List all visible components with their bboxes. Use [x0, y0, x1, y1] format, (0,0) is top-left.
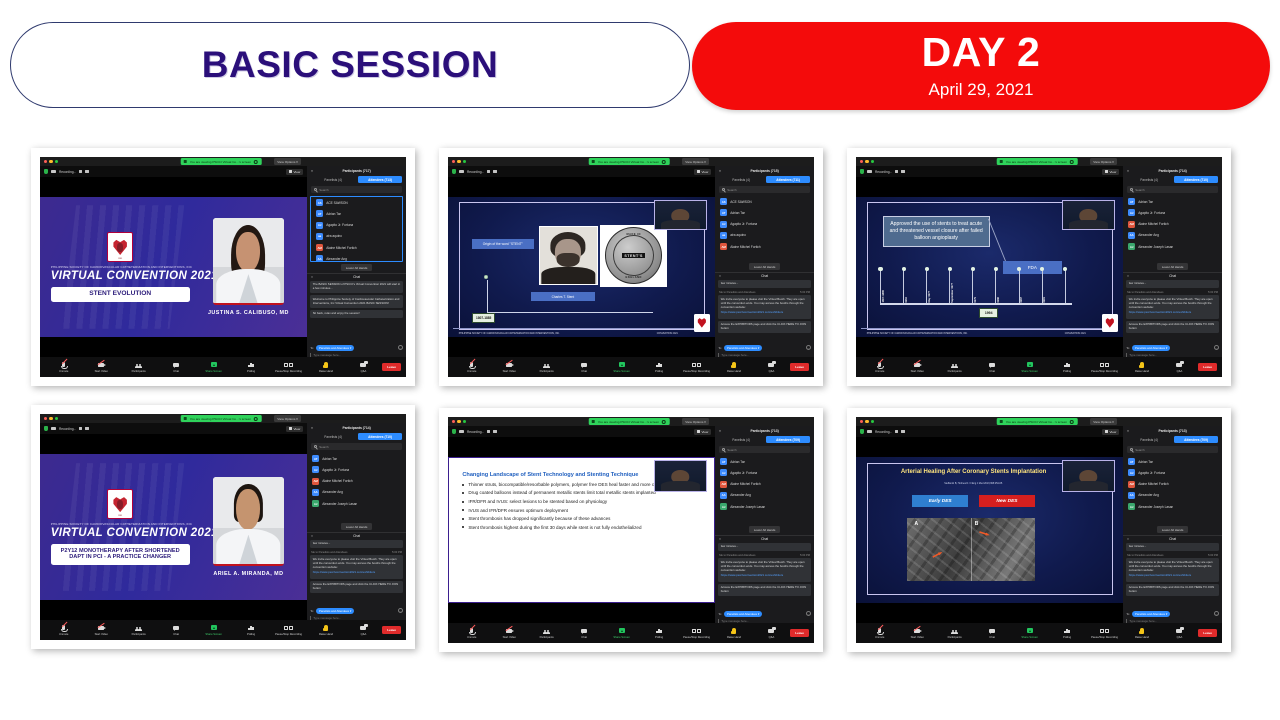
camera-icon: [506, 363, 512, 367]
lower-all-hands-button[interactable]: Lower All Hands: [1157, 263, 1189, 270]
toolbar-unmute[interactable]: Unmute: [453, 627, 490, 638]
security-shield-icon[interactable]: [44, 426, 48, 431]
screen-share-banner: You are viewing PSCCI Virtual Co...'s sc…: [181, 158, 262, 166]
recording-label: Recording...: [59, 170, 76, 174]
toolbar-share-screen[interactable]: Share Screen: [195, 361, 232, 372]
toolbar-qa-label: Q&A: [361, 370, 367, 373]
stop-share-icon[interactable]: [254, 160, 258, 164]
participant-list-item[interactable]: AJ Agapito Jr. Fortuna: [717, 467, 812, 478]
stop-share-icon[interactable]: [254, 417, 258, 421]
toolbar-start-video-label: Start Video: [503, 636, 516, 639]
participant-list-item[interactable]: AJ Alexander Joseph Lasan: [717, 501, 812, 512]
security-shield-icon[interactable]: [860, 429, 864, 434]
chat-input[interactable]: Type message here...: [310, 353, 403, 357]
view-button[interactable]: View: [1102, 429, 1119, 435]
chevron-down-icon[interactable]: ▾: [311, 169, 313, 173]
toolbar-polling[interactable]: Polling: [232, 624, 269, 635]
chat-link[interactable]: https://www.psccivconvention2021.com/exh…: [721, 574, 809, 578]
convention-title: VIRTUAL CONVENTION 2021: [51, 270, 190, 282]
chat-recipient-row[interactable]: To: Panelists and Attendees ▾ ⋯: [718, 611, 811, 617]
toolbar-qa-label: Q&A: [769, 370, 775, 373]
toolbar-chat[interactable]: Chat: [157, 361, 194, 372]
minimize-icon: [865, 420, 868, 423]
chat-input[interactable]: Type message here...: [718, 353, 811, 357]
fda-callout-text: Approved the use of stents to treat acut…: [883, 216, 990, 246]
leave-button[interactable]: Leave: [1198, 363, 1217, 371]
toolbar-recording-label: Pause/Stop Recording: [275, 370, 302, 373]
attendee-list[interactable]: AT Adrian Tan AJ Agapito Jr. Fortuna AM …: [1123, 196, 1222, 261]
toolbar-chat[interactable]: Chat: [565, 361, 602, 372]
chat-more-icon[interactable]: ⋯: [398, 608, 403, 613]
share-screen-icon: [1027, 362, 1033, 367]
chat-recipient-pill[interactable]: Panelists and Attendees ▾: [724, 611, 762, 617]
toolbar-chat[interactable]: Chat: [973, 361, 1010, 372]
participant-list-item[interactable]: AM Alaine Mitchel Fortich: [309, 476, 404, 487]
toolbar-chat-label: Chat: [173, 370, 179, 373]
participant-list-item[interactable]: AJ Agapito Jr. Fortuna: [313, 220, 400, 231]
tab-attendees[interactable]: Attendees (711): [766, 176, 810, 183]
chat-sender: Me to Panelists and Attendees: [719, 291, 755, 294]
chat-link[interactable]: https://www.psccivconvention2021.com/exh…: [721, 311, 809, 315]
shot-2-origin-of-stent[interactable]: You are viewing PSCCI Virtual Co...'s sc…: [439, 148, 823, 386]
polling-icon: [656, 362, 661, 367]
chat-recipient-row[interactable]: To: Panelists and Attendees ▾ ⋯: [1126, 345, 1219, 351]
attendee-list[interactable]: AS ACE SAWSON AT Adrian Tan AJ Agapito J…: [715, 196, 814, 261]
toolbar-start-video[interactable]: Start Video: [898, 627, 935, 638]
pip-body: [1069, 481, 1107, 491]
toolbar-share-screen-label: Share Screen: [1021, 370, 1037, 373]
toolbar-polling[interactable]: Polling: [1048, 627, 1085, 638]
chat-message: few minutes...: [310, 540, 403, 548]
tab-attendees[interactable]: Attendees (710): [358, 433, 402, 440]
tab-panelists[interactable]: Panelists (4): [1127, 176, 1171, 183]
lower-all-hands-button[interactable]: Lower All Hands: [1157, 526, 1189, 533]
leave-button[interactable]: Leave: [790, 629, 809, 637]
pause-recording-icon[interactable]: [79, 427, 82, 430]
avatar: AJ: [720, 503, 727, 510]
pause-recording-icon[interactable]: [895, 430, 898, 433]
chat-messages[interactable]: few minutes... Me to Panelists and Atten…: [715, 280, 814, 345]
tab-attendees[interactable]: Attendees (709): [766, 436, 810, 443]
participant-name: Agapito Jr. Fortuna: [326, 223, 353, 227]
chat-messages[interactable]: few minutes... Me to Panelists and Atten…: [715, 543, 814, 611]
participant-search-input[interactable]: Search: [311, 186, 402, 193]
toolbar-share-screen[interactable]: Share Screen: [1011, 361, 1048, 372]
security-shield-icon[interactable]: [44, 169, 48, 174]
toolbar-qa[interactable]: Q&A: [1161, 627, 1198, 638]
toolbar-polling[interactable]: Polling: [640, 361, 677, 372]
participant-list-item[interactable]: AJ Agapito Jr. Fortuna: [309, 464, 404, 475]
view-options-button[interactable]: View Options ▾: [1090, 418, 1117, 426]
chat-more-icon[interactable]: ⋯: [806, 611, 811, 616]
toolbar-raise-hand[interactable]: Raise Hand: [715, 361, 752, 372]
chat-message: Access the EXHIBITORS page and click the…: [718, 584, 811, 596]
toolbar-polling[interactable]: Polling: [232, 361, 269, 372]
participant-list-item[interactable]: AA Alexander Ang: [309, 487, 404, 498]
tab-panelists[interactable]: Panelists (4): [311, 176, 355, 183]
chat-compose: To: Panelists and Attendees ▾ ⋯ Type mes…: [1123, 611, 1222, 623]
chat-more-icon[interactable]: ⋯: [398, 345, 403, 350]
screen-share-banner: You are viewing PSCCI Virtual Co...'s sc…: [997, 158, 1078, 166]
stop-recording-icon[interactable]: [85, 170, 88, 173]
stop-share-icon[interactable]: [1070, 160, 1074, 164]
chevron-down-icon[interactable]: ▾: [1127, 537, 1129, 541]
attendee-list[interactable]: AS ACE SAWSON AT Adrian Tan AJ Agapito J…: [310, 196, 403, 262]
toolbar-recording-label: Pause/Stop Recording: [1091, 636, 1118, 639]
lower-all-hands-button[interactable]: Lower All Hands: [749, 526, 781, 533]
toolbar-polling[interactable]: Polling: [1048, 361, 1085, 372]
window-controls[interactable]: [452, 160, 466, 163]
toolbar-recording[interactable]: Pause/Stop Recording: [270, 361, 307, 372]
participant-search-input[interactable]: Search: [311, 443, 402, 450]
screen-share-banner: You are viewing PSCCI Virtual Co...'s sc…: [181, 415, 262, 423]
participant-search-input[interactable]: Search: [1127, 446, 1218, 453]
chevron-down-icon[interactable]: ▾: [719, 274, 721, 278]
zoom-body: Recording... View Approved the use of st…: [856, 166, 1222, 357]
chat-recipient-pill[interactable]: Panelists and Attendees ▾: [316, 608, 354, 614]
view-options-button[interactable]: View Options ▾: [274, 158, 301, 166]
view-button[interactable]: View: [694, 429, 711, 435]
chat-link[interactable]: https://www.psccivconvention2021.com/exh…: [1129, 311, 1217, 315]
chat-more-icon[interactable]: ⋯: [806, 345, 811, 350]
chat-recipient-pill[interactable]: Panelists and Attendees ▾: [1132, 611, 1170, 617]
tab-panelists[interactable]: Panelists (4): [719, 436, 763, 443]
security-shield-icon[interactable]: [452, 169, 456, 174]
qa-icon: [768, 629, 774, 634]
view-icon: [289, 170, 292, 173]
toolbar-chat[interactable]: Chat: [973, 627, 1010, 638]
timeline-tick: 1987: [1019, 270, 1020, 305]
participant-list-item[interactable]: AJ Alexander Joseph Lasan: [309, 498, 404, 509]
chat-more-icon[interactable]: ⋯: [1214, 345, 1219, 350]
polling-icon: [1064, 362, 1069, 367]
panel-a-label: A: [914, 521, 918, 527]
chat-message: The BASIC SESSION of PSCCI's Virtual Con…: [310, 281, 403, 293]
recording-camera-icon: [459, 430, 464, 433]
participant-list-item[interactable]: AT Adrian Tan: [1125, 456, 1220, 467]
toolbar-raise-hand[interactable]: Raise Hand: [715, 627, 752, 638]
shot-5-changing-landscape[interactable]: You are viewing PSCCI Virtual Co...'s sc…: [439, 408, 823, 652]
close-icon: [44, 160, 47, 163]
chevron-down-icon[interactable]: ▾: [1127, 169, 1129, 173]
toolbar-recording[interactable]: Pause/Stop Recording: [270, 624, 307, 635]
participant-list-item[interactable]: AA Alexander Ang: [717, 490, 812, 501]
participant-list-item[interactable]: aa aira aquino: [313, 231, 400, 242]
chevron-down-icon[interactable]: ▾: [1127, 429, 1129, 433]
chevron-down-icon[interactable]: ▾: [1127, 274, 1129, 278]
timeline-dot: [878, 267, 882, 271]
leave-button[interactable]: Leave: [382, 363, 401, 371]
qa-icon: [360, 363, 366, 368]
chat-recipient-row[interactable]: To: Panelists and Attendees ▾ ⋯: [718, 345, 811, 351]
participant-list-item[interactable]: aa aira aquino: [717, 230, 812, 241]
chat-messages[interactable]: few minutes... Me to Panelists and Atten…: [1123, 280, 1222, 345]
toolbar-unmute[interactable]: Unmute: [45, 624, 82, 635]
toolbar-unmute[interactable]: Unmute: [861, 627, 898, 638]
participant-list-item[interactable]: AM Alaine Mitchel Fortich: [1125, 219, 1220, 230]
toolbar-qa[interactable]: Q&A: [345, 361, 382, 372]
toolbar-participants[interactable]: Participants: [936, 627, 973, 638]
tab-attendees[interactable]: Attendees (713): [358, 176, 402, 183]
participant-search-input[interactable]: Search: [1127, 186, 1218, 193]
toolbar-start-video[interactable]: Start Video: [490, 361, 527, 372]
window-titlebar: You are viewing PSCCI Virtual Co...'s sc…: [448, 417, 814, 426]
toolbar-participants[interactable]: Participants: [528, 627, 565, 638]
tab-panelists[interactable]: Panelists (4): [311, 433, 355, 440]
view-options-button[interactable]: View Options ▾: [1090, 158, 1117, 166]
heart-icon: [697, 318, 706, 328]
camera-icon: [914, 629, 920, 633]
toolbar-qa[interactable]: Q&A: [753, 627, 790, 638]
toolbar-recording[interactable]: Pause/Stop Recording: [678, 627, 715, 638]
chevron-down-icon[interactable]: ▾: [311, 426, 313, 430]
participant-list-item[interactable]: AA Alexander Ang: [313, 253, 400, 262]
stop-recording-icon[interactable]: [493, 170, 496, 173]
toolbar-raise-hand[interactable]: Raise Hand: [307, 624, 344, 635]
window-controls[interactable]: [860, 160, 874, 163]
participant-list-item[interactable]: AJ Alexander Joseph Lasan: [1125, 241, 1220, 252]
recording-label: Recording...: [875, 170, 892, 174]
recording-icon: [692, 629, 701, 633]
toolbar-start-video-label: Start Video: [911, 636, 924, 639]
pause-recording-icon[interactable]: [487, 430, 490, 433]
toolbar-start-video[interactable]: Start Video: [490, 627, 527, 638]
chevron-down-icon[interactable]: ▾: [719, 537, 721, 541]
toolbar-share-screen[interactable]: Share Screen: [603, 627, 640, 638]
avatar: AJ: [316, 222, 323, 229]
slide-page: BASIC SESSION DAY 2 April 29, 2021 You a…: [0, 0, 1280, 720]
stop-share-icon[interactable]: [1070, 420, 1074, 424]
toolbar-raise-hand[interactable]: Raise Hand: [1123, 627, 1160, 638]
zoom-toolbar: Unmute Start Video Participants Chat Sha…: [448, 623, 814, 643]
chat-panel-header: ▾ Chat: [307, 273, 406, 281]
speaker-name: ARIEL A. MIRANDA, MD: [213, 571, 283, 577]
toolbar-chat-label: Chat: [581, 370, 587, 373]
timeline-year: 1979: [974, 297, 977, 303]
view-options-button[interactable]: View Options ▾: [274, 415, 301, 423]
participant-list-item[interactable]: AM Alaine Mitchel Fortich: [717, 479, 812, 490]
toolbar-start-video[interactable]: Start Video: [898, 361, 935, 372]
view-button[interactable]: View: [694, 169, 711, 175]
shot-3-fda-approval[interactable]: You are viewing PSCCI Virtual Co...'s sc…: [847, 148, 1231, 386]
avatar: AM: [1128, 221, 1135, 228]
toolbar-qa[interactable]: Q&A: [753, 361, 790, 372]
tab-panelists[interactable]: Panelists (4): [719, 176, 763, 183]
toolbar-share-screen[interactable]: Share Screen: [603, 361, 640, 372]
chat-input[interactable]: Type message here...: [1126, 353, 1219, 357]
participants-title: Participants (713): [1158, 429, 1186, 433]
participant-list-item[interactable]: AT Adrian Tan: [717, 207, 812, 218]
toolbar-chat[interactable]: Chat: [157, 624, 194, 635]
chat-link[interactable]: https://www.psccivconvention2021.com/exh…: [1129, 574, 1217, 578]
participant-list-item[interactable]: AM Alaine Mitchel Fortich: [313, 242, 400, 253]
chat-time: 5:00 PM: [800, 554, 810, 557]
participant-list-item[interactable]: AS ACE SAWSON: [717, 196, 812, 207]
maximize-icon: [55, 160, 58, 163]
toolbar-share-screen[interactable]: Share Screen: [1011, 627, 1048, 638]
window-controls[interactable]: [860, 420, 874, 423]
chat-title: Chat: [1169, 274, 1176, 278]
timeline-dot: [994, 267, 998, 271]
participant-list-item[interactable]: AT Adrian Tan: [717, 456, 812, 467]
chat-recipient-row[interactable]: To: Panelists and Attendees ▾ ⋯: [1126, 611, 1219, 617]
chat-messages[interactable]: few minutes... Me to Panelists and Atten…: [1123, 543, 1222, 611]
maximize-icon: [463, 160, 466, 163]
chat-messages[interactable]: few minutes... Me to Panelists and Atten…: [307, 540, 406, 608]
toolbar-participants[interactable]: Participants: [120, 361, 157, 372]
participants-title: Participants (714): [1158, 169, 1186, 173]
window-controls[interactable]: [44, 160, 58, 163]
stage-topbar: Recording... View: [856, 166, 1123, 177]
search-placeholder: Search: [727, 188, 737, 192]
window-controls[interactable]: [452, 420, 466, 423]
security-shield-icon[interactable]: [452, 429, 456, 434]
view-button[interactable]: View: [1102, 169, 1119, 175]
participant-list-item[interactable]: AJ Agapito Jr. Fortuna: [1125, 207, 1220, 218]
zoom-body: Recording... View 1985 PHILIPPINE SOCIET…: [40, 166, 406, 357]
chat-recipient-row[interactable]: To: Panelists and Attendees ▾ ⋯: [310, 608, 403, 614]
timeline-ticks: 1807-1885 1964 May 1977 September 1977 1…: [880, 270, 1072, 305]
chevron-down-icon[interactable]: ▾: [719, 429, 721, 433]
shot-4-p2y12-monotherapy[interactable]: You are viewing PSCCI Virtual Co...'s sc…: [31, 405, 415, 649]
participant-list-item[interactable]: AA Alexander Ang: [1125, 230, 1220, 241]
tab-attendees[interactable]: Attendees (710): [1174, 176, 1218, 183]
leave-button[interactable]: Leave: [790, 363, 809, 371]
toolbar-unmute[interactable]: Unmute: [453, 361, 490, 372]
toolbar-start-video[interactable]: Start Video: [82, 624, 119, 635]
speaker-pip: [654, 200, 707, 231]
toolbar-recording[interactable]: Pause/Stop Recording: [1086, 627, 1123, 638]
minimize-icon: [457, 420, 460, 423]
chat-input[interactable]: Type message here...: [1126, 619, 1219, 623]
share-banner-text: You are viewing PSCCI Virtual Co...'s sc…: [1006, 160, 1067, 164]
lower-all-hands-button[interactable]: Lower All Hands: [341, 523, 373, 530]
toolbar-chat[interactable]: Chat: [565, 627, 602, 638]
participant-list-item[interactable]: AJ Agapito Jr. Fortuna: [1125, 467, 1220, 478]
view-icon: [697, 430, 700, 433]
toolbar-polling[interactable]: Polling: [640, 627, 677, 638]
participant-list-item[interactable]: AA Alexander Ang: [1125, 490, 1220, 501]
toolbar-unmute[interactable]: Unmute: [45, 361, 82, 372]
chat-link[interactable]: https://www.psccivconvention2021.com/exh…: [313, 571, 401, 575]
attendee-list[interactable]: AT Adrian Tan AJ Agapito Jr. Fortuna AM …: [715, 456, 814, 524]
chat-messages[interactable]: The BASIC SESSION of PSCCI's Virtual Con…: [307, 281, 406, 345]
toolbar-qa[interactable]: Q&A: [1161, 361, 1198, 372]
lower-all-hands-button[interactable]: Lower All Hands: [749, 263, 781, 270]
toolbar-raise-hand[interactable]: Raise Hand: [307, 361, 344, 372]
share-indicator-icon: [184, 417, 187, 420]
view-button[interactable]: View: [286, 426, 303, 432]
zoom-stage: Recording... View 1985 PHILIPPINE SOCIET…: [40, 423, 307, 620]
chat-input[interactable]: Type message here...: [310, 616, 403, 620]
recording-icon: [1100, 363, 1109, 367]
chevron-down-icon[interactable]: ▾: [719, 169, 721, 173]
lower-all-hands-button[interactable]: Lower All Hands: [341, 264, 373, 271]
participant-list-item[interactable]: AJ Agapito Jr. Fortuna: [717, 219, 812, 230]
participant-name: Alaine Mitchel Fortich: [326, 246, 356, 250]
share-banner-text: You are viewing PSCCI Virtual Co...'s sc…: [190, 417, 251, 421]
toolbar-raise-hand-label: Raise Hand: [727, 370, 741, 373]
origin-callout: Origin of the word "STENT": [472, 239, 533, 249]
timeline-tick: 1979: [972, 270, 973, 305]
participant-list-item[interactable]: AM Alaine Mitchel Fortich: [717, 241, 812, 252]
view-options-button[interactable]: View Options ▾: [682, 418, 709, 426]
participant-name: Alaine Mitchel Fortich: [322, 479, 352, 483]
chat-recipient-pill[interactable]: Panelists and Attendees ▾: [724, 345, 762, 351]
view-button[interactable]: View: [286, 169, 303, 175]
shared-screen-canvas: Changing Landscape of Stent Technology a…: [448, 437, 715, 623]
participant-search-input[interactable]: Search: [719, 186, 810, 193]
participant-list-item[interactable]: AJ Alexander Joseph Lasan: [1125, 501, 1220, 512]
chevron-down-icon[interactable]: ▾: [311, 275, 313, 279]
toolbar-qa[interactable]: Q&A: [345, 624, 382, 635]
tab-panelists[interactable]: Panelists (4): [1127, 436, 1171, 443]
chat-input[interactable]: Type message here...: [718, 619, 811, 623]
stop-share-icon[interactable]: [662, 420, 666, 424]
pause-recording-icon[interactable]: [487, 170, 490, 173]
timeline-tick: 1991: [1042, 270, 1043, 305]
window-controls[interactable]: [44, 417, 58, 420]
arrow-icon: [978, 530, 989, 536]
participant-list-item[interactable]: AM Alaine Mitchel Fortich: [1125, 479, 1220, 490]
chat-message: Welcome to Philippine Society of Cardiov…: [310, 295, 403, 307]
participant-list-item[interactable]: AT Adrian Tan: [1125, 196, 1220, 207]
shot-6-arterial-healing[interactable]: You are viewing PSCCI Virtual Co...'s sc…: [847, 408, 1231, 652]
chevron-down-icon[interactable]: ▾: [311, 534, 313, 538]
toolbar-recording[interactable]: Pause/Stop Recording: [678, 361, 715, 372]
toolbar-participants[interactable]: Participants: [936, 361, 973, 372]
toolbar-recording-label: Pause/Stop Recording: [275, 633, 302, 636]
participant-name: Adrian Tan: [1138, 200, 1153, 204]
recording-label: Recording...: [875, 430, 892, 434]
stop-recording-icon[interactable]: [901, 170, 904, 173]
pause-recording-icon[interactable]: [895, 170, 898, 173]
toolbar-raise-hand[interactable]: Raise Hand: [1123, 361, 1160, 372]
chat-more-icon[interactable]: ⋯: [1214, 611, 1219, 616]
toolbar-unmute[interactable]: Unmute: [861, 361, 898, 372]
participants-icon: [136, 627, 141, 629]
stop-share-icon[interactable]: [662, 160, 666, 164]
participant-list-item[interactable]: AS ACE SAWSON: [313, 197, 400, 208]
attendee-list[interactable]: AT Adrian Tan AJ Agapito Jr. Fortuna AM …: [307, 453, 406, 521]
avatar: AT: [720, 458, 727, 465]
toolbar-start-video[interactable]: Start Video: [82, 361, 119, 372]
toolbar-share-screen[interactable]: Share Screen: [195, 624, 232, 635]
toolbar-recording[interactable]: Pause/Stop Recording: [1086, 361, 1123, 372]
stop-recording-icon[interactable]: [85, 427, 88, 430]
participant-search-input[interactable]: Search: [719, 446, 810, 453]
participant-list-item[interactable]: AT Adrian Tan: [309, 453, 404, 464]
chat-recipient-pill[interactable]: Panelists and Attendees ▾: [316, 345, 354, 351]
pause-recording-icon[interactable]: [79, 170, 82, 173]
window-titlebar: You are viewing PSCCI Virtual Co...'s sc…: [40, 157, 406, 166]
stop-recording-icon[interactable]: [493, 430, 496, 433]
view-options-button[interactable]: View Options ▾: [682, 158, 709, 166]
chat-recipient-row[interactable]: To: Panelists and Attendees ▾ ⋯: [310, 345, 403, 351]
leave-button[interactable]: Leave: [1198, 629, 1217, 637]
tab-attendees[interactable]: Attendees (709): [1174, 436, 1218, 443]
leave-button[interactable]: Leave: [382, 626, 401, 634]
stop-recording-icon[interactable]: [901, 430, 904, 433]
toolbar-participants[interactable]: Participants: [120, 624, 157, 635]
security-shield-icon[interactable]: [860, 169, 864, 174]
participants-tabs: Panelists (4) Attendees (711): [715, 176, 814, 186]
toolbar-participants[interactable]: Participants: [528, 361, 565, 372]
attendee-list[interactable]: AT Adrian Tan AJ Agapito Jr. Fortuna AM …: [1123, 456, 1222, 524]
shot-1-stent-evolution[interactable]: You are viewing PSCCI Virtual Co...'s sc…: [31, 148, 415, 386]
chat-recipient-pill[interactable]: Panelists and Attendees ▾: [1132, 345, 1170, 351]
participant-list-item[interactable]: AT Adrian Tan: [313, 208, 400, 219]
